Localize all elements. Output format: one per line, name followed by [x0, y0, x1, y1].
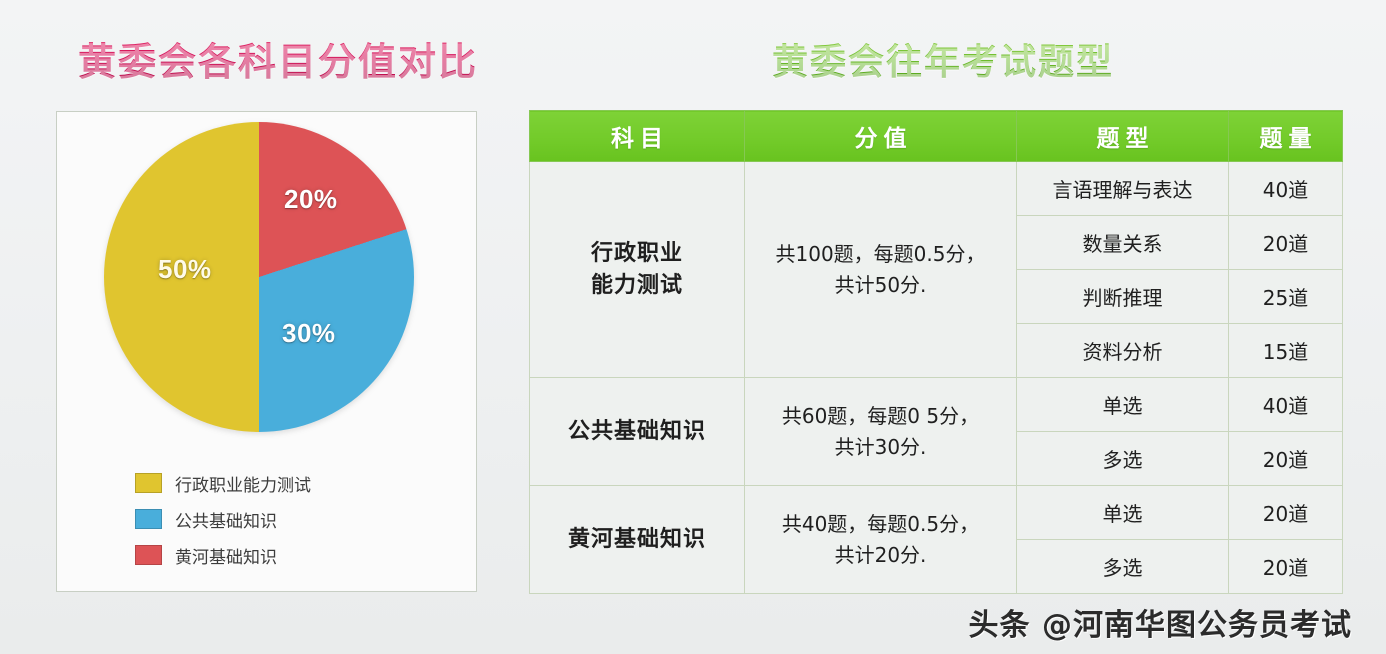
score-line-2: 共计20分. — [835, 543, 927, 567]
cell-count: 20道 — [1229, 540, 1343, 594]
score-line-1: 共40题，每题0.5分， — [782, 512, 979, 536]
table-row: 公共基础知识 共60题，每题0 5分， 共计30分. 单选 40道 — [530, 378, 1343, 432]
cell-type: 言语理解与表达 — [1017, 162, 1229, 216]
right-panel-title: 黄委会往年考试题型 — [772, 33, 1114, 85]
left-panel-title: 黄委会各科目分值对比 — [78, 31, 478, 86]
pie-slice-label-public-basics: 30% — [282, 318, 336, 349]
cell-count: 20道 — [1229, 216, 1343, 270]
pie-chart-legend: 行政职业能力测试 公共基础知识 黄河基础知识 — [135, 472, 435, 580]
subject-line-1: 行政职业 — [591, 241, 683, 266]
table-header-row: 科目 分值 题型 题量 — [530, 111, 1343, 162]
cell-type: 资料分析 — [1017, 324, 1229, 378]
cell-subject: 行政职业 能力测试 — [530, 162, 745, 378]
column-header-score: 分值 — [745, 111, 1017, 162]
score-line-1: 共60题，每题0 5分， — [782, 404, 979, 428]
pie-chart-graphic — [104, 122, 414, 432]
score-line-1: 共100题，每题0.5分， — [776, 242, 986, 266]
score-line-2: 共计30分. — [835, 435, 927, 459]
legend-item: 行政职业能力测试 — [135, 472, 435, 494]
column-header-count: 题量 — [1229, 111, 1343, 162]
column-header-type: 题型 — [1017, 111, 1229, 162]
cell-type: 单选 — [1017, 486, 1229, 540]
cell-type: 数量关系 — [1017, 216, 1229, 270]
watermark-text: 头条 @河南华图公务员考试 — [969, 600, 1352, 644]
score-line-2: 共计50分. — [835, 273, 927, 297]
legend-item: 公共基础知识 — [135, 508, 435, 530]
legend-swatch-yellow — [135, 473, 162, 493]
pie-slice-label-admin-aptitude: 50% — [158, 254, 212, 285]
poster-canvas: 黄委会各科目分值对比 黄委会往年考试题型 50% 20% 30% 行政职业能力测… — [0, 0, 1386, 654]
cell-subject: 黄河基础知识 — [530, 486, 745, 594]
legend-label: 黄河基础知识 — [175, 543, 277, 568]
exam-structure-table: 科目 分值 题型 题量 行政职业 能力测试 共100题，每题0.5分， 共计50… — [529, 110, 1343, 594]
cell-count: 40道 — [1229, 162, 1343, 216]
cell-type: 判断推理 — [1017, 270, 1229, 324]
legend-label: 公共基础知识 — [175, 507, 277, 532]
cell-count: 15道 — [1229, 324, 1343, 378]
legend-swatch-red — [135, 545, 162, 565]
subject-line-2: 能力测试 — [591, 273, 683, 298]
cell-count: 40道 — [1229, 378, 1343, 432]
cell-type: 单选 — [1017, 378, 1229, 432]
cell-score: 共60题，每题0 5分， 共计30分. — [745, 378, 1017, 486]
cell-count: 20道 — [1229, 486, 1343, 540]
cell-count: 25道 — [1229, 270, 1343, 324]
legend-item: 黄河基础知识 — [135, 544, 435, 566]
cell-count: 20道 — [1229, 432, 1343, 486]
cell-subject: 公共基础知识 — [530, 378, 745, 486]
pie-chart-panel: 50% 20% 30% 行政职业能力测试 公共基础知识 黄河基础知识 — [56, 111, 477, 592]
cell-score: 共100题，每题0.5分， 共计50分. — [745, 162, 1017, 378]
cell-type: 多选 — [1017, 432, 1229, 486]
table-row: 黄河基础知识 共40题，每题0.5分， 共计20分. 单选 20道 — [530, 486, 1343, 540]
pie-chart: 50% 20% 30% — [104, 122, 414, 432]
cell-score: 共40题，每题0.5分， 共计20分. — [745, 486, 1017, 594]
cell-type: 多选 — [1017, 540, 1229, 594]
column-header-subject: 科目 — [530, 111, 745, 162]
legend-label: 行政职业能力测试 — [175, 471, 311, 496]
pie-slice-label-yellow-river: 20% — [284, 184, 338, 215]
table-row: 行政职业 能力测试 共100题，每题0.5分， 共计50分. 言语理解与表达 4… — [530, 162, 1343, 216]
legend-swatch-blue — [135, 509, 162, 529]
